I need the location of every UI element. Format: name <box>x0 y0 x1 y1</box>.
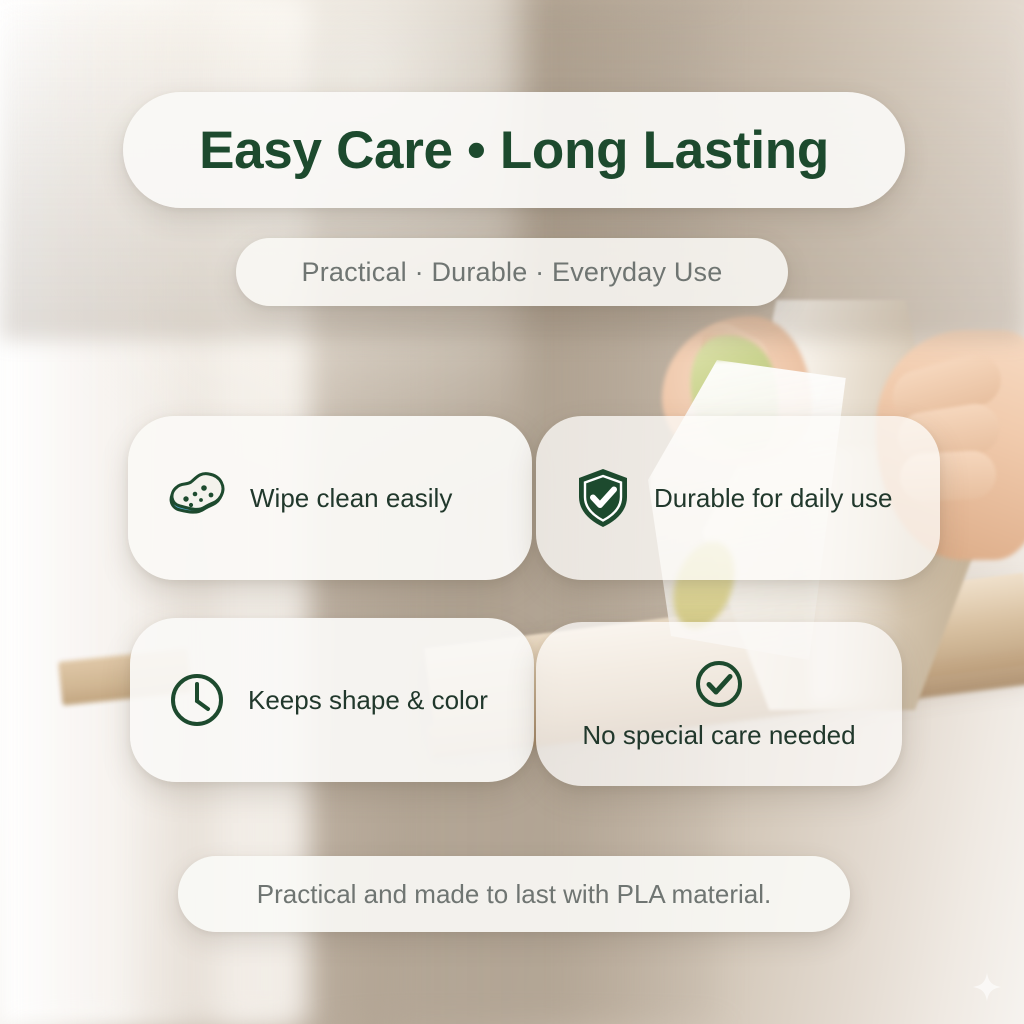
feature-card-wipe[interactable]: Wipe clean easily <box>128 416 532 580</box>
feature-label: Durable for daily use <box>654 483 892 514</box>
page-subtitle: Practical · Durable · Everyday Use <box>302 257 723 288</box>
shield-check-icon <box>574 467 632 529</box>
feature-card-no-special-care[interactable]: No special care needed <box>536 622 902 786</box>
footer-pill: Practical and made to last with PLA mate… <box>178 856 850 932</box>
feature-label: Keeps shape & color <box>248 685 488 716</box>
sponge-icon <box>166 472 228 524</box>
clock-icon <box>168 671 226 729</box>
feature-card-keeps-shape[interactable]: Keeps shape & color <box>130 618 534 782</box>
check-circle-icon <box>693 658 745 710</box>
title-pill: Easy Care • Long Lasting <box>123 92 905 208</box>
infographic-canvas: Easy Care • Long Lasting Practical · Dur… <box>0 0 1024 1024</box>
sparkle-icon <box>972 972 1002 1002</box>
page-title: Easy Care • Long Lasting <box>199 120 829 181</box>
feature-label: Wipe clean easily <box>250 483 452 514</box>
feature-label: No special care needed <box>582 720 855 751</box>
subtitle-pill: Practical · Durable · Everyday Use <box>236 238 788 306</box>
feature-card-durable[interactable]: Durable for daily use <box>536 416 940 580</box>
footer-note: Practical and made to last with PLA mate… <box>257 879 771 910</box>
